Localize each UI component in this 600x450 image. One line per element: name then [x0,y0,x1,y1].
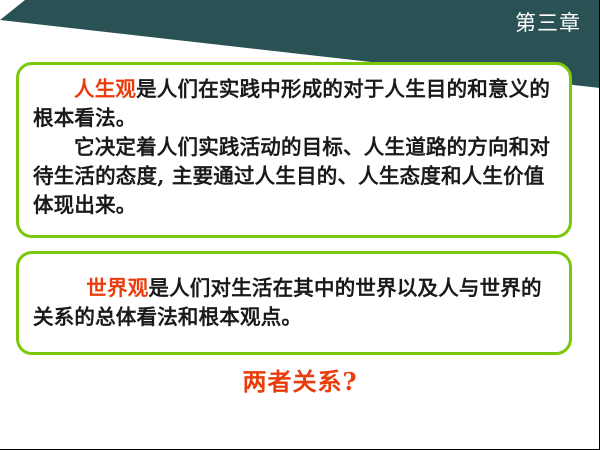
life-outlook-paragraph-2: 它决定着人们实践活动的目标、人生道路的方向和对待生活的态度, 主要通过人生目的、… [33,133,555,220]
chapter-title: 第三章 [515,12,581,35]
slide-canvas: 第三章 人生观是人们在实践中形成的对于人生目的和意义的根本看法。 它决定着人们实… [0,0,600,450]
life-outlook-paragraph-1: 人生观是人们在实践中形成的对于人生目的和意义的根本看法。 [33,75,555,133]
term-world-outlook: 世界观 [86,276,148,300]
term-life-outlook: 人生观 [74,77,136,101]
world-outlook-paragraph-1: 世界观是人们对生活在其中的世界以及人与世界的关系的总体看法和根本观点。 [33,274,555,332]
life-outlook-paragraph-2-text: 它决定着人们实践活动的目标、人生道路的方向和对待生活的态度, 主要通过人生目的、… [33,135,550,217]
relationship-question: 两者关系? [0,362,600,397]
life-outlook-box: 人生观是人们在实践中形成的对于人生目的和意义的根本看法。 它决定着人们实践活动的… [16,62,572,238]
world-outlook-box: 世界观是人们对生活在其中的世界以及人与世界的关系的总体看法和根本观点。 [16,251,572,355]
